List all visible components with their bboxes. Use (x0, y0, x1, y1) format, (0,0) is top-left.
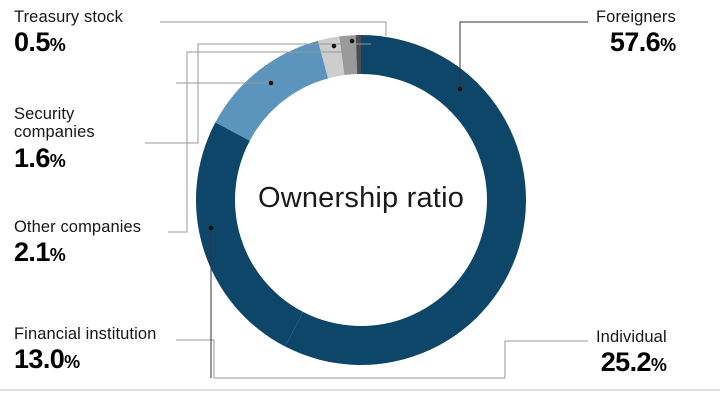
callout-foreigners-value: 57.6% (596, 27, 676, 57)
callout-individual-percent-sign: % (651, 355, 667, 375)
callout-individual[interactable]: Individual 25.2% (596, 328, 667, 378)
callout-other-companies[interactable]: Other companies 2.1% (14, 218, 141, 268)
callout-treasury-stock-number: 0.5 (14, 27, 50, 57)
callout-foreigners-percent-sign: % (660, 35, 676, 55)
callout-security-companies-number: 1.6 (14, 143, 50, 173)
callout-treasury-stock[interactable]: Treasury stock 0.5% (14, 8, 123, 58)
dot-financial (209, 226, 214, 231)
leader-line-individual (505, 341, 588, 378)
callout-other-companies-value: 2.1% (14, 237, 141, 267)
leader-line-foreigners (460, 22, 588, 88)
callout-other-companies-percent-sign: % (50, 245, 66, 265)
callout-security-companies[interactable]: Security companies 1.6% (14, 105, 134, 173)
callout-treasury-stock-percent-sign: % (50, 35, 66, 55)
callout-foreigners-label: Foreigners (596, 8, 676, 26)
slice-individual[interactable] (196, 122, 303, 346)
callout-individual-value: 25.2% (596, 347, 667, 377)
donut-center-caption: Ownership ratio (196, 182, 526, 215)
callout-financial-institution-number: 13.0 (14, 344, 64, 374)
callout-treasury-stock-value: 0.5% (14, 27, 123, 57)
callout-other-companies-number: 2.1 (14, 237, 50, 267)
leader-line-treasury (160, 22, 386, 36)
callout-foreigners-number: 57.6 (610, 27, 660, 57)
callout-financial-institution[interactable]: Financial institution 13.0% (14, 325, 156, 375)
callout-individual-number: 25.2 (601, 347, 651, 377)
callout-security-companies-value: 1.6% (14, 143, 134, 173)
callout-financial-institution-value: 13.0% (14, 344, 156, 374)
slice-financial-institution[interactable] (215, 41, 328, 141)
dot-security (332, 44, 337, 49)
dot-othercos (269, 81, 274, 86)
callout-treasury-stock-label: Treasury stock (14, 8, 123, 26)
callout-financial-institution-label: Financial institution (14, 325, 156, 343)
callout-security-companies-percent-sign: % (50, 151, 66, 171)
callout-other-companies-label: Other companies (14, 218, 141, 236)
callout-foreigners[interactable]: Foreigners 57.6% (596, 8, 676, 58)
callout-security-companies-label: Security companies (14, 105, 134, 142)
dot-treasury (350, 39, 355, 44)
callout-financial-institution-percent-sign: % (64, 352, 80, 372)
callout-individual-label: Individual (596, 328, 667, 346)
dot-foreigners (458, 87, 463, 92)
chart-canvas: Ownership ratio Treasury stock 0.5% Secu… (0, 0, 720, 400)
